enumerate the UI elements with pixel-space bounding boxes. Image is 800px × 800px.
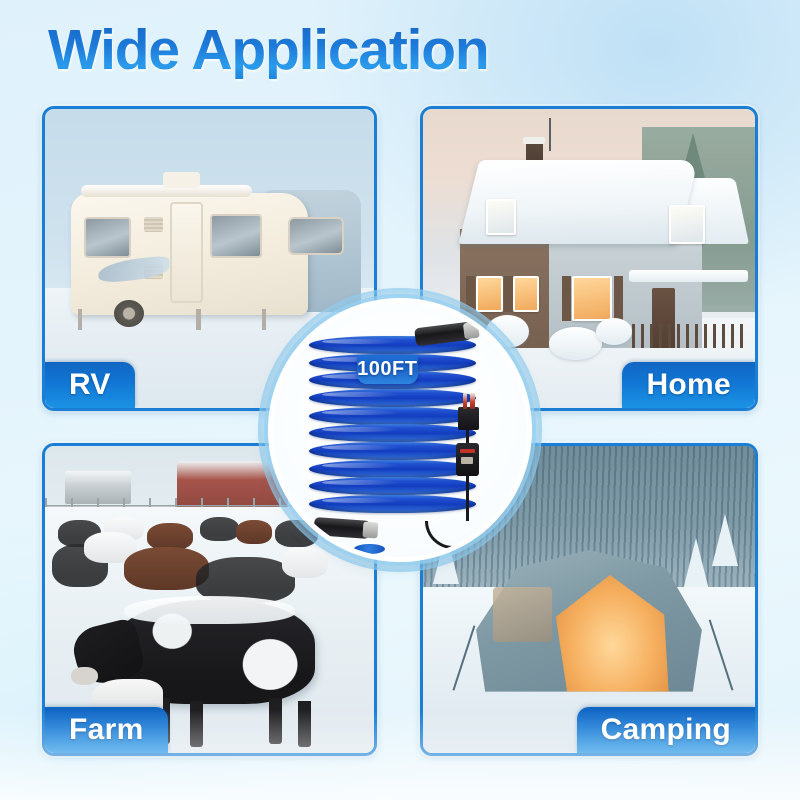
cow-distant-d [200, 517, 239, 542]
rv-roof-ac-unit [163, 172, 199, 188]
home-shutter-c [562, 276, 571, 321]
hose-coil-9 [309, 477, 477, 495]
rv-step [196, 309, 200, 330]
rv-window-mid [210, 214, 263, 259]
home-dormer-window [669, 205, 706, 244]
home-porch-roof [629, 270, 749, 282]
hose-coil-5 [309, 407, 477, 425]
cow-distant-e [236, 520, 272, 545]
inline-thermostat [456, 443, 479, 476]
card-label-rv-text: RV [69, 368, 111, 402]
home-shutter-b [504, 276, 513, 312]
card-label-home-text: Home [646, 368, 731, 402]
home-porch-railing [632, 324, 745, 348]
cow-mid-right [282, 547, 328, 578]
home-chimney-snow-cap [523, 137, 545, 144]
rv-stabilizer-front [78, 309, 82, 330]
cow-leg-c [269, 698, 282, 744]
plug-prong-right [470, 393, 474, 409]
hose-coil-10 [309, 495, 477, 513]
home-snowy-bush-c [596, 318, 633, 345]
home-window-front-lit [572, 276, 612, 321]
rv-window-rear [288, 217, 344, 256]
plug-prong-left [463, 393, 467, 409]
cow-leg-d [298, 701, 311, 747]
power-plug [458, 407, 478, 430]
hose-length-tag: 100FT [357, 355, 418, 384]
home-shutter-d [614, 276, 623, 321]
home-attic-window [486, 199, 516, 235]
home-window-left [476, 276, 503, 312]
camping-pine-a [712, 514, 738, 566]
cow-foreground-snow-cover [124, 596, 295, 624]
cow-foreground-muzzle [71, 667, 97, 685]
card-label-home: Home [622, 362, 755, 408]
card-label-farm: Farm [45, 707, 168, 753]
rv-door [170, 202, 203, 304]
card-label-farm-text: Farm [69, 713, 144, 747]
hose-coil-4 [309, 389, 477, 407]
camping-tent-window [493, 587, 553, 642]
card-label-camping: Camping [577, 707, 755, 753]
product-circle[interactable]: 100FT [268, 298, 532, 562]
camping-pine-b [683, 538, 709, 590]
cow-leg-b [190, 701, 203, 747]
hose-length-tag-text: 100FT [357, 358, 417, 381]
hose-fitting-bottom [313, 517, 370, 539]
hose-coil-6 [309, 424, 477, 442]
hose-coil-7 [309, 442, 477, 460]
card-label-camping-text: Camping [601, 713, 731, 747]
rv-window-front [84, 217, 130, 259]
home-antenna [549, 118, 551, 151]
home-window-left-2 [513, 276, 540, 312]
hose-coil-8 [309, 460, 477, 478]
card-label-rv: RV [45, 362, 135, 408]
rv-wheel [114, 300, 144, 327]
rv-vent-upper [144, 217, 164, 232]
hose-inline-connector [354, 544, 384, 554]
rv-stabilizer-rear [262, 309, 266, 330]
cow-distant-c [147, 523, 193, 551]
